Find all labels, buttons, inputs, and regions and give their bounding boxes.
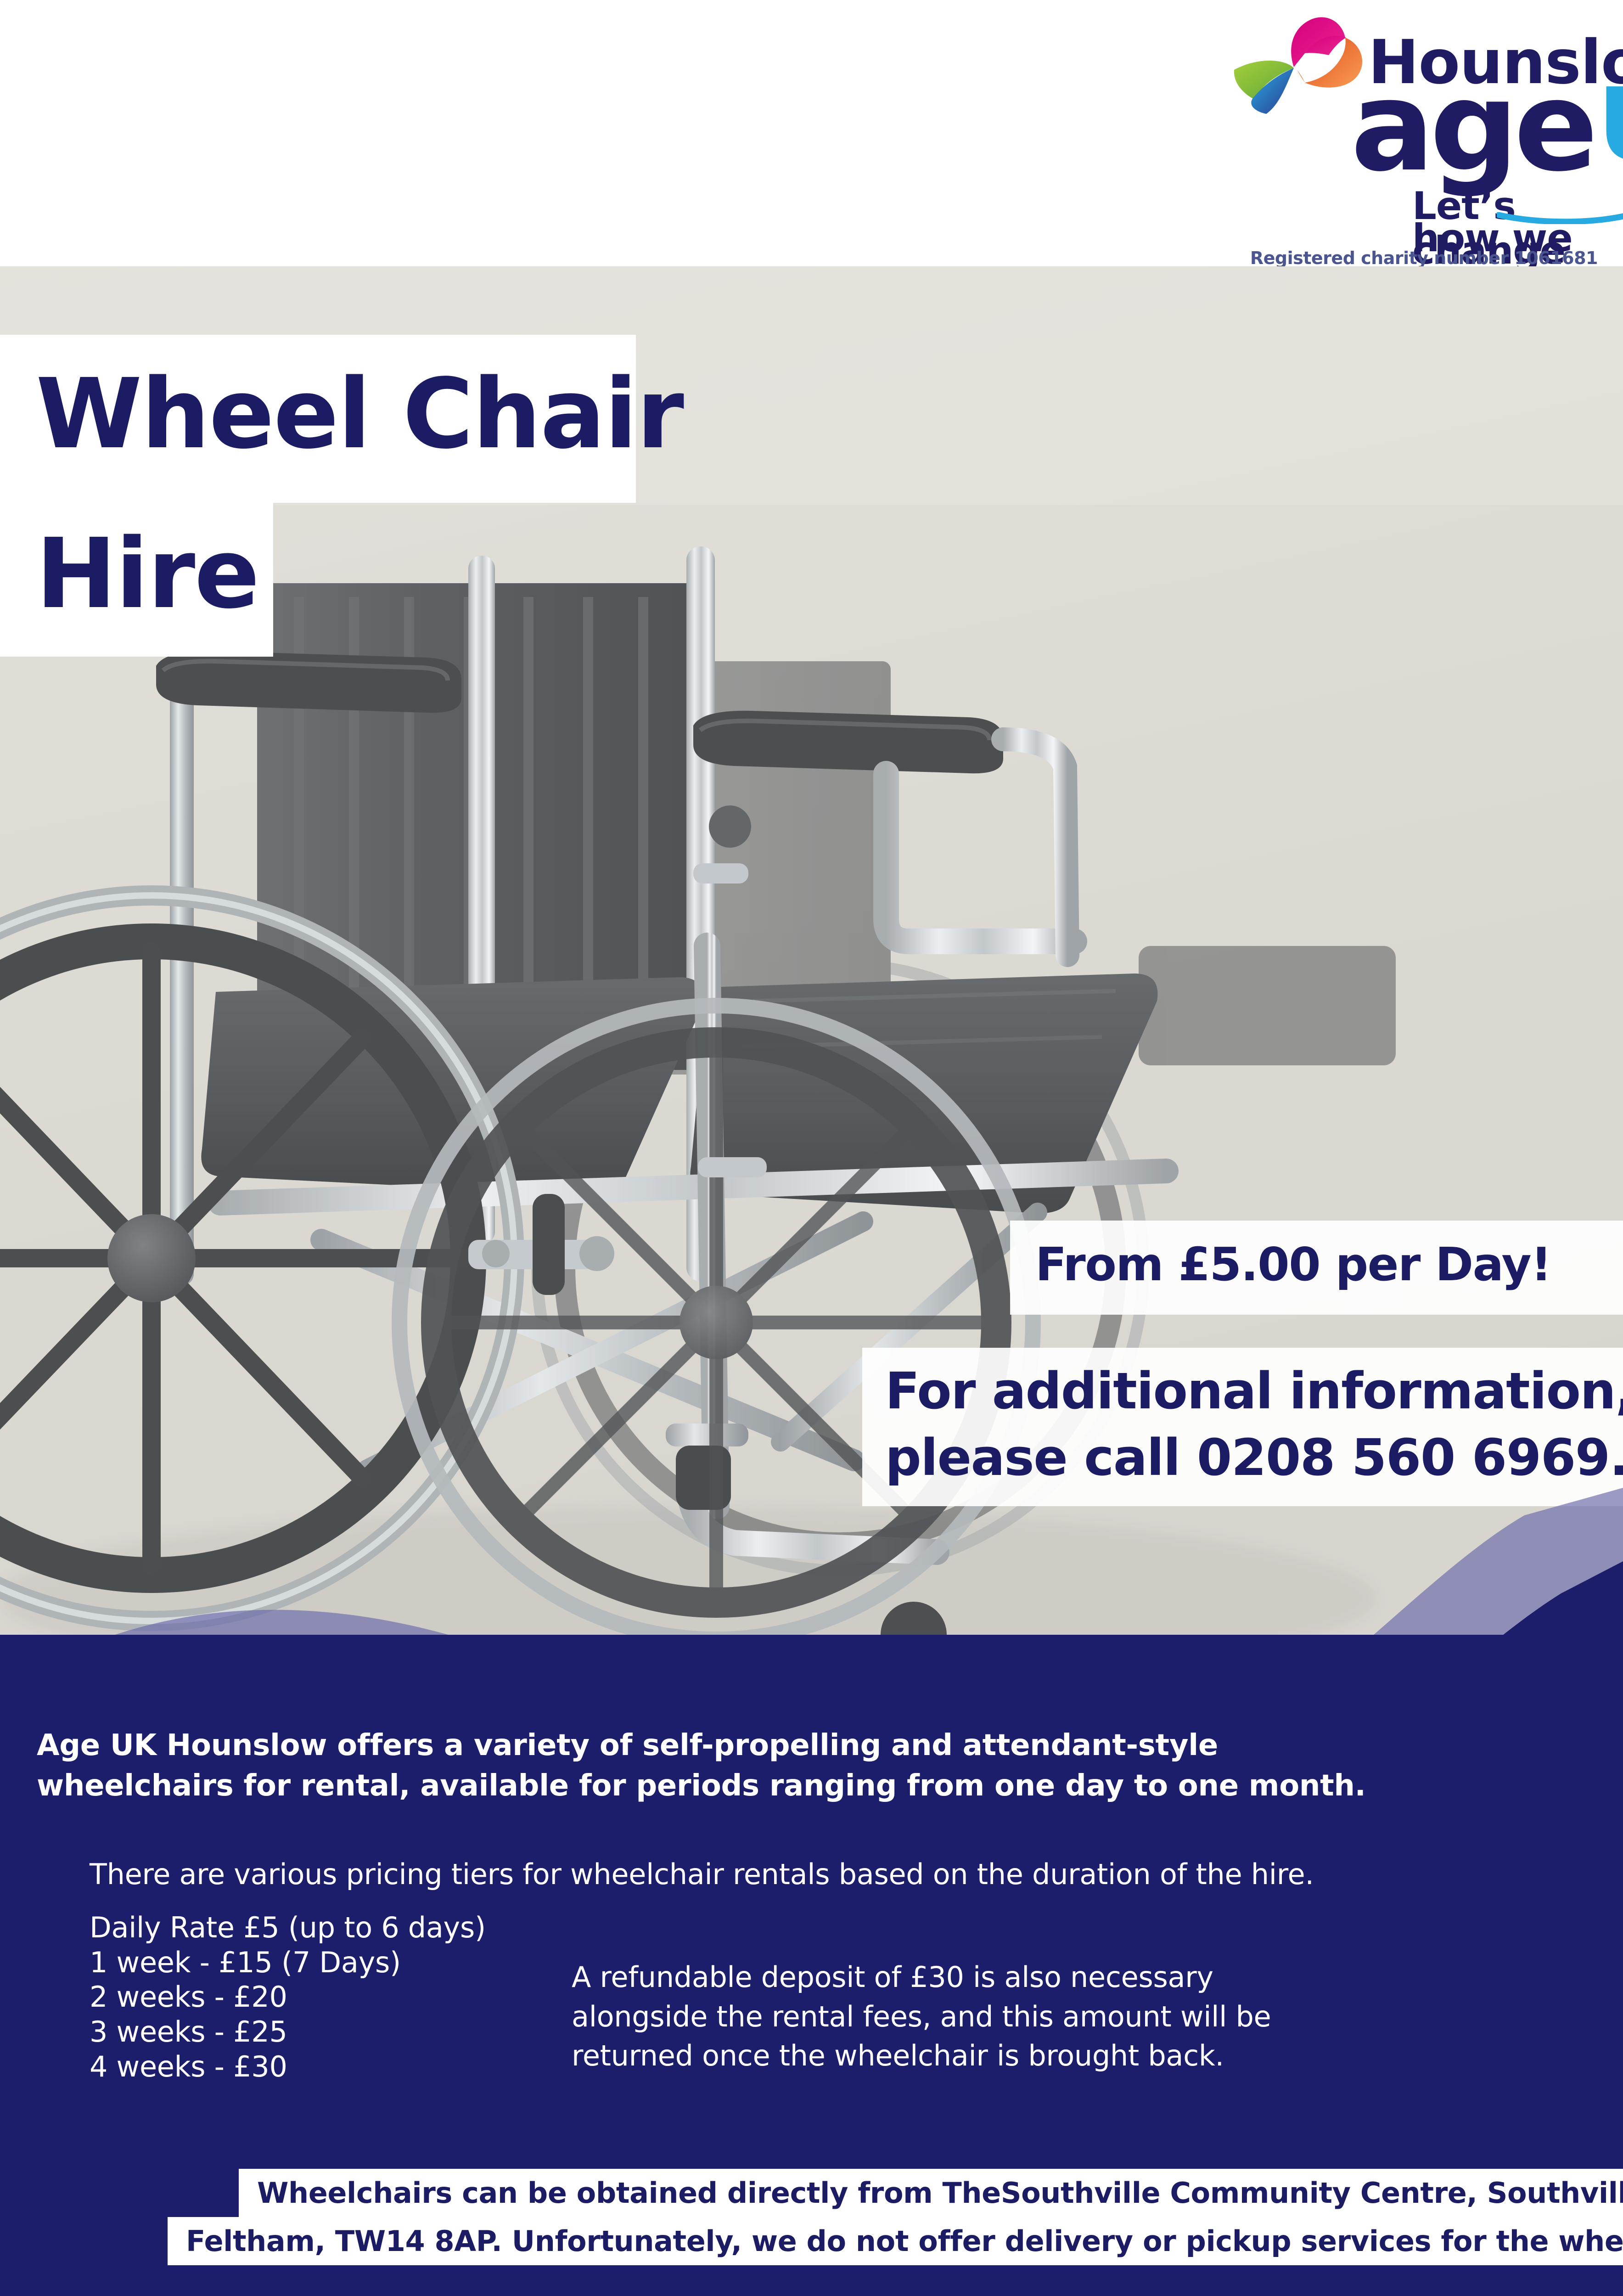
pricing-tier-item: 3 weeks - £25 — [90, 2015, 486, 2049]
pricing-tier-item: 1 week - £15 (7 Days) — [90, 1945, 486, 1980]
deposit-note-line1: A refundable deposit of £30 is also nece… — [572, 1958, 1271, 1997]
deposit-note-line3: returned once the wheelchair is brought … — [572, 2036, 1271, 2076]
intro-line1: Age UK Hounslow offers a variety of self… — [37, 1725, 1366, 1766]
pricing-tiers-intro: There are various pricing tiers for whee… — [90, 1857, 1314, 1891]
pricing-tier-item: Daily Rate £5 (up to 6 days) — [90, 1910, 486, 1945]
collection-info-line2: Feltham, TW14 8AP. Unfortunately, we do … — [168, 2217, 1623, 2265]
pricing-tier-item: 2 weeks - £20 — [90, 1980, 486, 2015]
page-title-line2: Hire — [36, 526, 259, 622]
deposit-note: A refundable deposit of £30 is also nece… — [572, 1958, 1271, 2076]
age-uk-hounslow-logo: Hounslow ageUK Let’s change how we age R… — [1230, 5, 1598, 262]
page-header: Hounslow ageUK Let’s change how we age R… — [0, 0, 1623, 266]
pricing-tier-list: Daily Rate £5 (up to 6 days) 1 week - £1… — [90, 1910, 486, 2084]
contact-callout-line2: please call 0208 560 6969. — [885, 1428, 1623, 1487]
pricing-tier-item: 4 weeks - £30 — [90, 2049, 486, 2084]
collection-info-line1: Wheelchairs can be obtained directly fro… — [239, 2169, 1623, 2217]
charity-number: Registered charity number 1061681 — [1250, 248, 1598, 268]
intro-paragraph: Age UK Hounslow offers a variety of self… — [37, 1725, 1366, 1806]
logo-uk-text: UK — [1597, 67, 1623, 183]
logo-age-text: age — [1351, 54, 1594, 199]
page-title-line1: Wheel Chair — [36, 366, 683, 462]
contact-callout-line1: For additional information, — [885, 1362, 1623, 1420]
intro-line2: wheelchairs for rental, available for pe… — [37, 1766, 1366, 1806]
price-callout-text: From £5.00 per Day! — [1035, 1238, 1551, 1291]
logo-ageuk-wordmark: ageUK — [1351, 76, 1623, 177]
deposit-note-line2: alongside the rental fees, and this amou… — [572, 1997, 1271, 2037]
